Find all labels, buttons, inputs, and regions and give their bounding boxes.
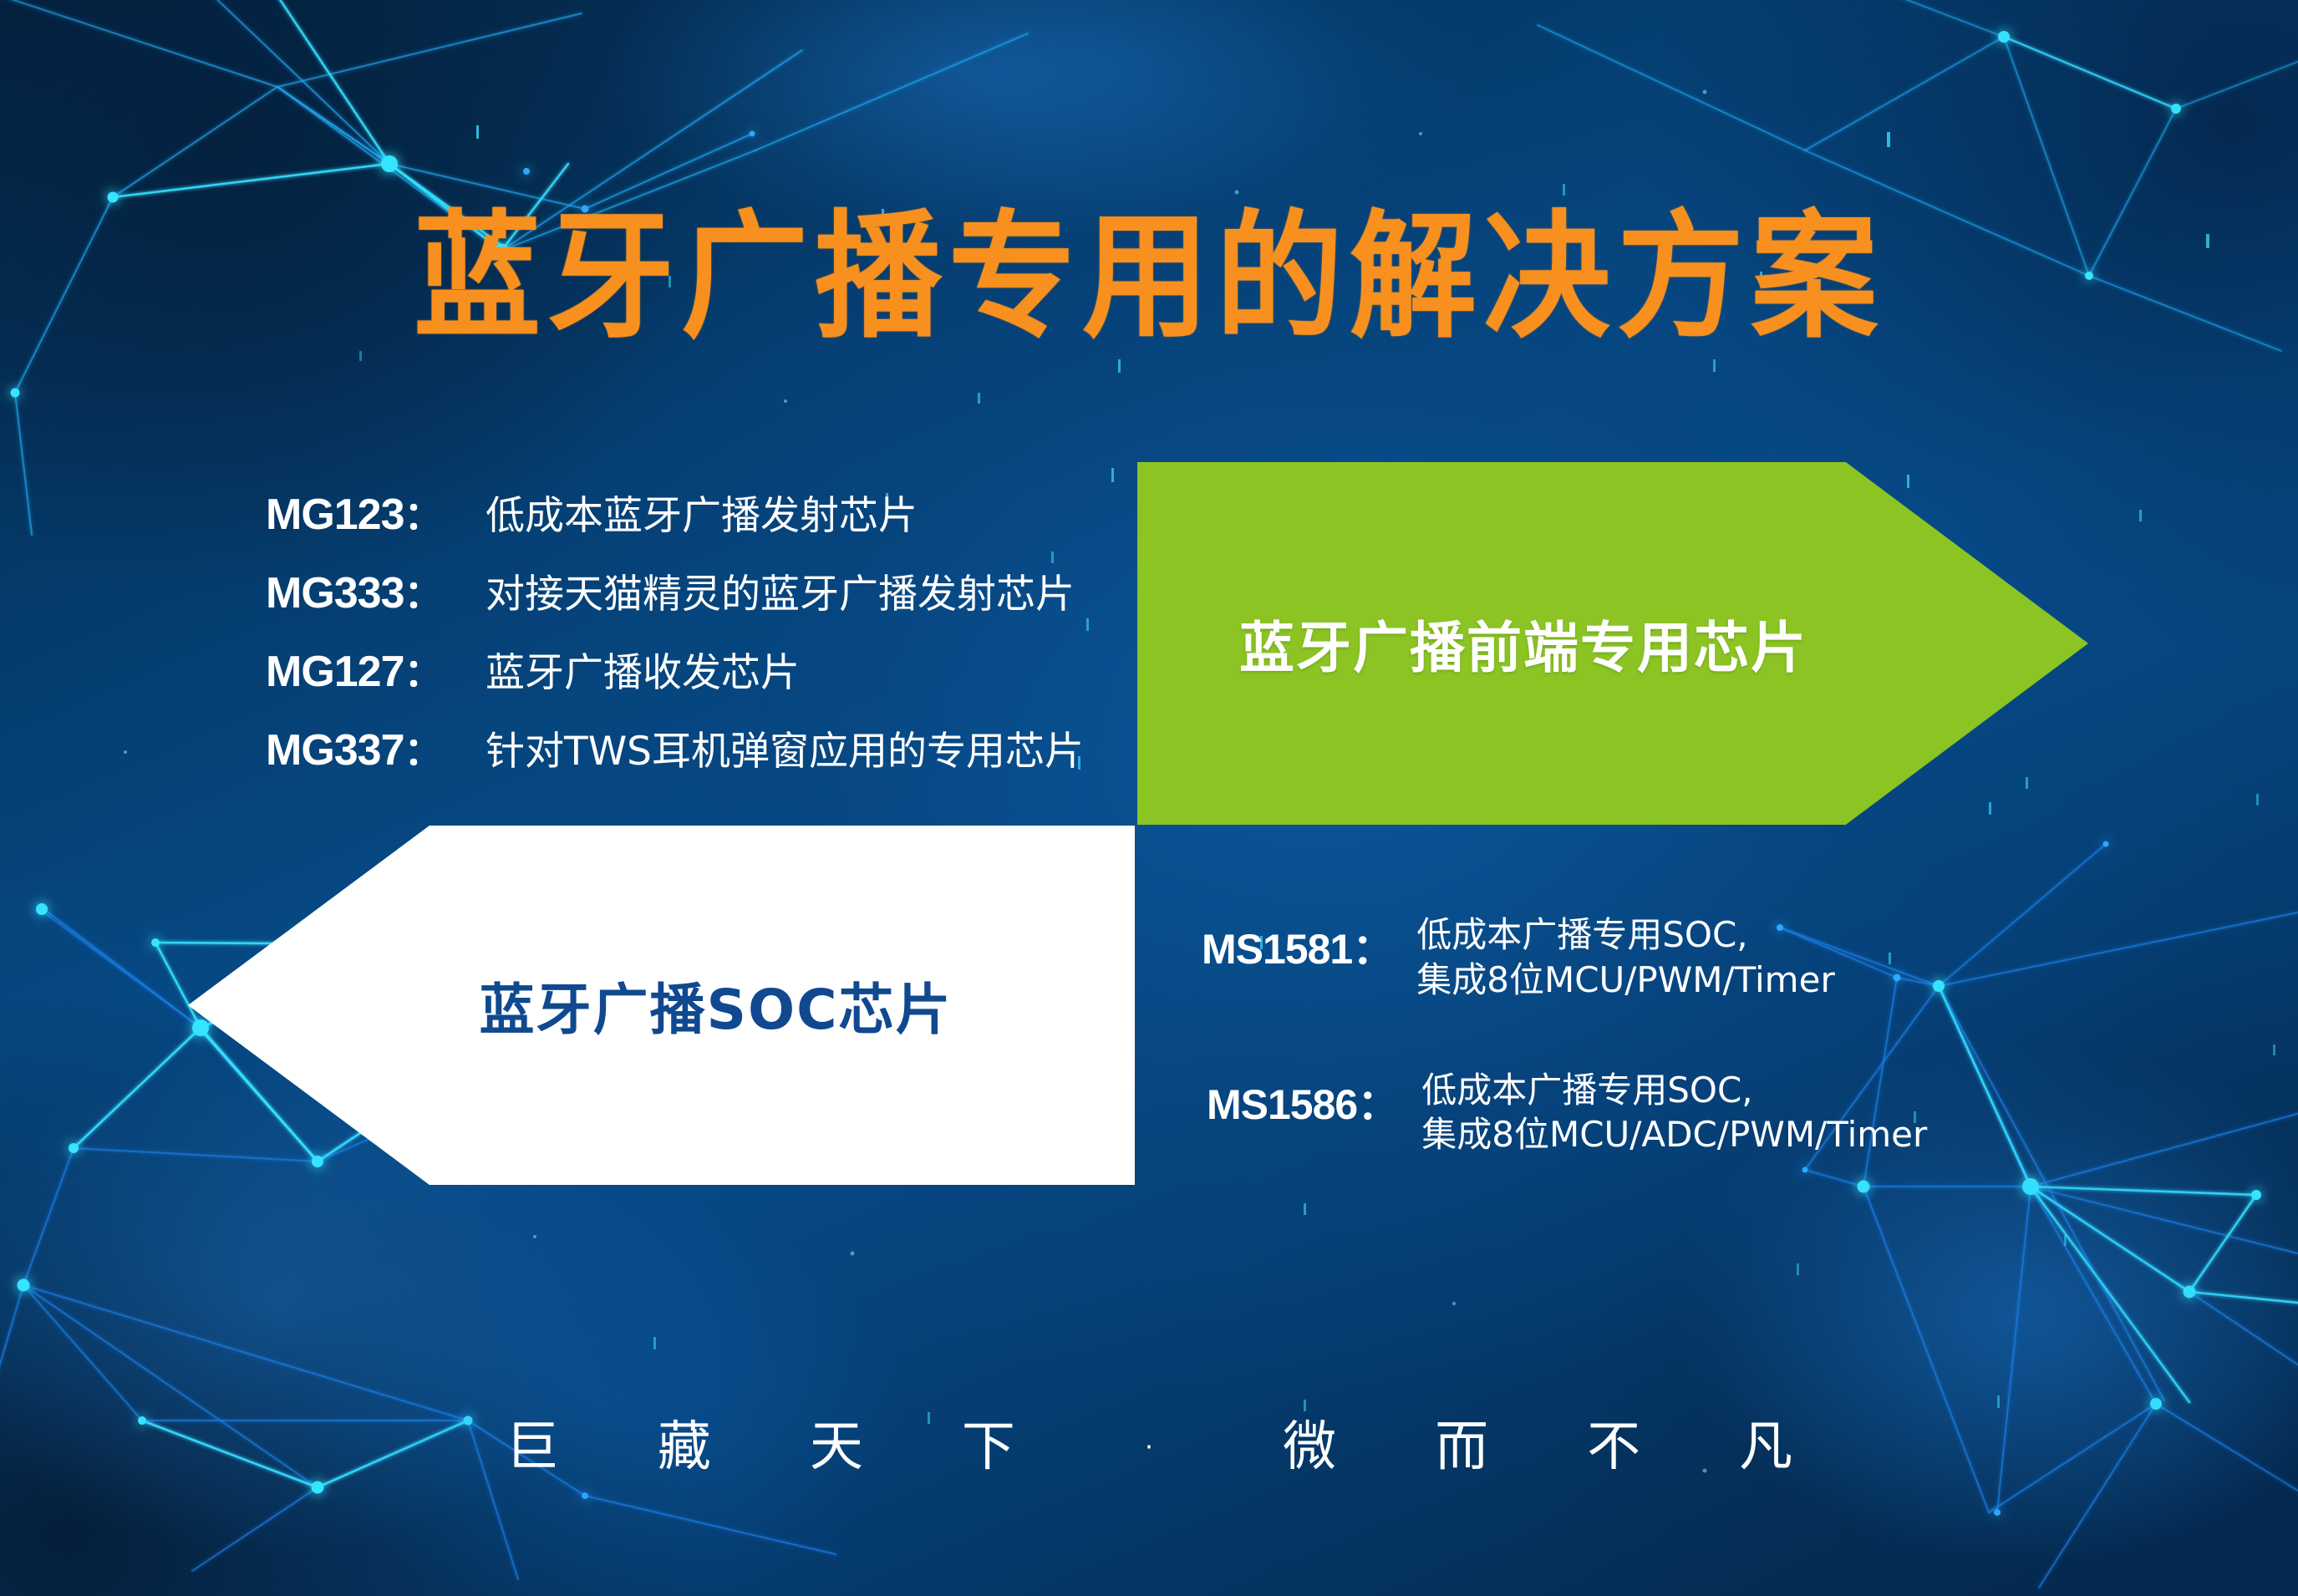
tagline-char: 天 bbox=[810, 1404, 863, 1481]
tagline-separator: · bbox=[1141, 1416, 1157, 1478]
tagline-char: 微 bbox=[1283, 1404, 1336, 1481]
chip-code: MS1586： bbox=[1207, 1068, 1398, 1131]
list-item: MG333： 对接天猫精灵的蓝牙广播发射芯片 bbox=[266, 562, 1152, 640]
chip-code: MG127： bbox=[266, 643, 479, 698]
tagline-char: 不 bbox=[1587, 1404, 1640, 1481]
chip-description-line: 低成本广播专用SOC, bbox=[1421, 1068, 1927, 1113]
tagline: 巨藏天下·微而不凡 bbox=[0, 1404, 2298, 1481]
green-banner-label: 蓝牙广播前端专用芯片 bbox=[1239, 603, 1807, 684]
tagline-char: 藏 bbox=[658, 1404, 711, 1481]
tagline-char: 凡 bbox=[1739, 1404, 1792, 1481]
mg-chip-list: MG123： 低成本蓝牙广播发射芯片 MG333： 对接天猫精灵的蓝牙广播发射芯… bbox=[266, 483, 1152, 797]
ms-chip-list: MS1581： 低成本广播专用SOC, 集成8位MCU/PWM/Timer MS… bbox=[1202, 912, 2221, 1222]
chip-description-line: 集成8位MCU/ADC/PWM/Timer bbox=[1421, 1112, 1927, 1157]
chip-code: MG123： bbox=[266, 485, 479, 541]
tagline-char: 巨 bbox=[506, 1404, 559, 1481]
list-item: MG337： 针对TWS耳机弹窗应用的专用芯片 bbox=[266, 719, 1152, 797]
chip-description: 针对TWS耳机弹窗应用的专用芯片 bbox=[479, 719, 1084, 776]
list-item: MG127： 蓝牙广播收发芯片 bbox=[266, 640, 1152, 719]
chip-description-line: 集成8位MCU/PWM/Timer bbox=[1416, 958, 1834, 1003]
chip-description-line: 低成本广播专用SOC, bbox=[1416, 912, 1834, 958]
white-banner-label: 蓝牙广播SOC芯片 bbox=[370, 965, 952, 1045]
chip-description: 低成本广播专用SOC, 集成8位MCU/PWM/Timer bbox=[1393, 912, 1834, 1003]
tagline-char: 下 bbox=[962, 1404, 1015, 1481]
chip-code: MG337： bbox=[266, 721, 479, 776]
list-item: MS1586： 低成本广播专用SOC, 集成8位MCU/ADC/PWM/Time… bbox=[1202, 1068, 2221, 1158]
chip-code: MG333： bbox=[266, 564, 479, 619]
tagline-char: 而 bbox=[1435, 1404, 1488, 1481]
chip-description: 低成本广播专用SOC, 集成8位MCU/ADC/PWM/Timer bbox=[1398, 1068, 1927, 1158]
page-title: 蓝牙广播专用的解决方案 bbox=[0, 165, 2298, 364]
list-item: MG123： 低成本蓝牙广播发射芯片 bbox=[266, 483, 1152, 562]
chip-description: 低成本蓝牙广播发射芯片 bbox=[479, 483, 918, 541]
chip-description: 蓝牙广播收发芯片 bbox=[479, 640, 800, 698]
chip-description: 对接天猫精灵的蓝牙广播发射芯片 bbox=[479, 562, 1075, 619]
chip-code: MS1581： bbox=[1202, 912, 1393, 976]
list-item: MS1581： 低成本广播专用SOC, 集成8位MCU/PWM/Timer bbox=[1202, 912, 2221, 1003]
